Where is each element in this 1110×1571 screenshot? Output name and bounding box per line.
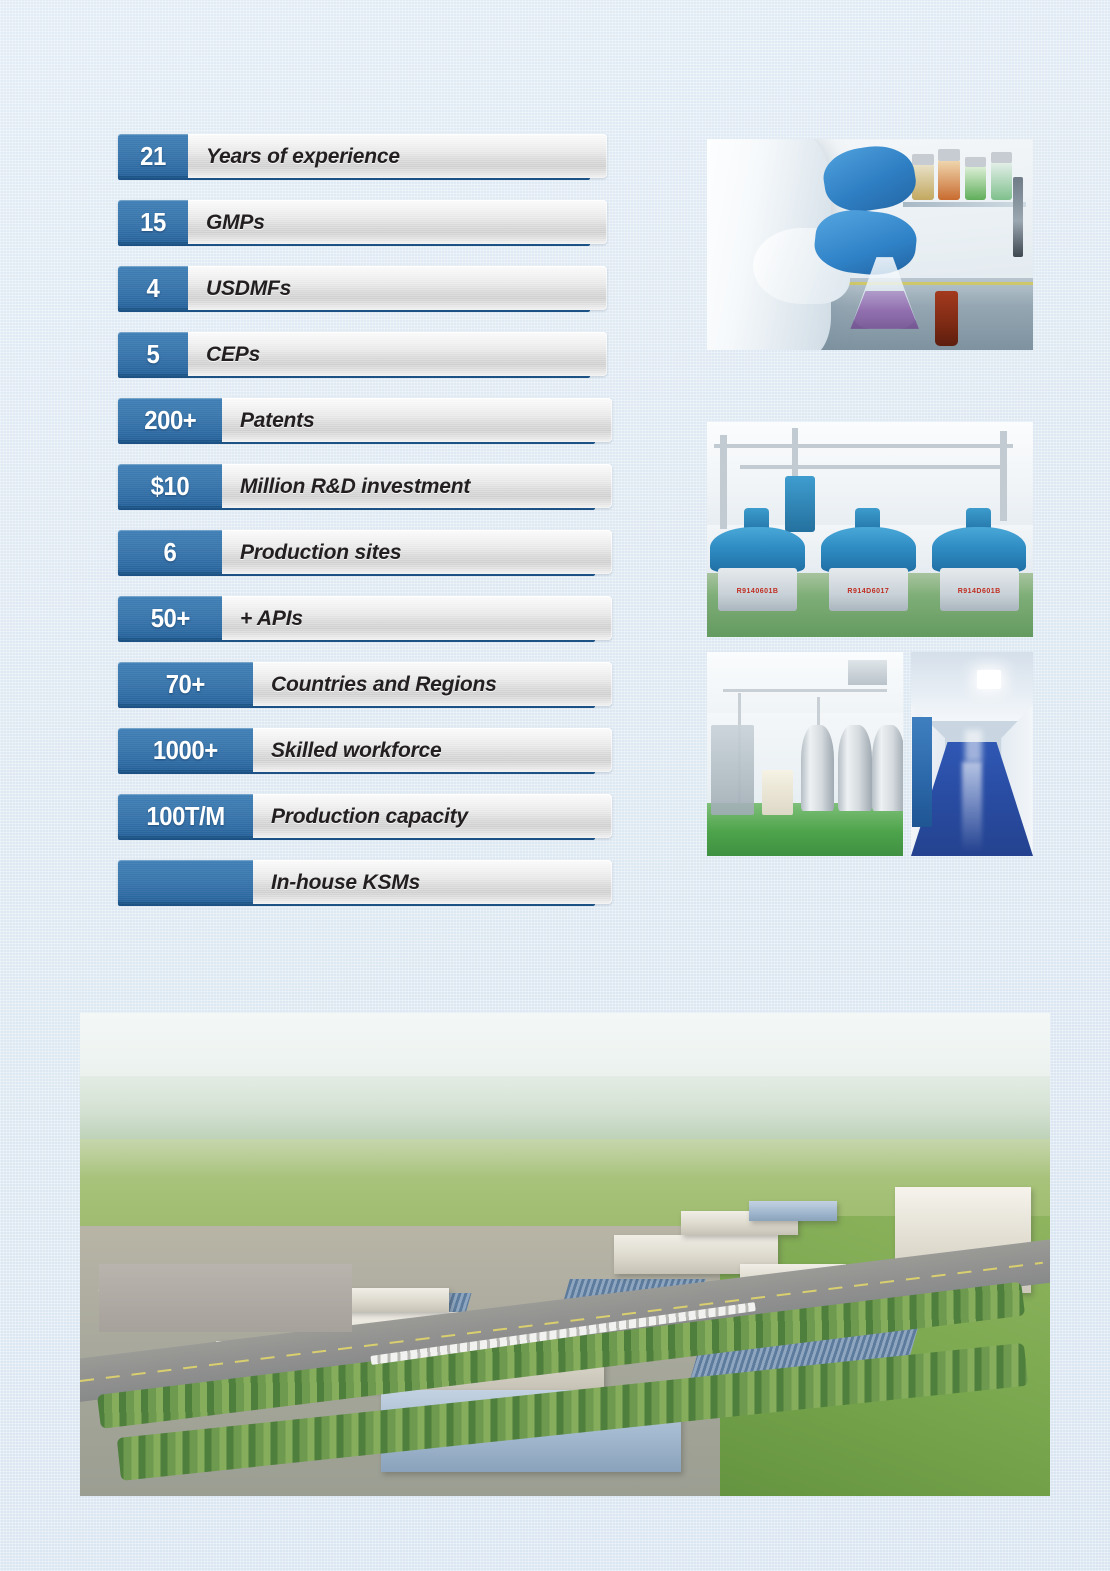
floor-reflection [962, 762, 982, 852]
pipe [740, 465, 1001, 469]
stat-row[interactable]: 4 USDMFs [118, 266, 618, 310]
stat-value-block: 100T/M [118, 794, 253, 838]
reactor-unit: R9140601B [710, 508, 805, 611]
stat-label: Years of experience [188, 146, 400, 167]
stainless-steel-tank [801, 725, 834, 811]
stat-value-block: 1000+ [118, 728, 253, 772]
stat-label: Production sites [222, 542, 401, 563]
stat-value: 50+ [150, 605, 189, 631]
reagent-bottle [991, 162, 1012, 200]
reactor-asset-tag: R914D6017 [832, 588, 904, 595]
stat-group-credentials: 21 Years of experience 15 GMPs [118, 134, 618, 376]
stat-value-block: $10 [118, 464, 222, 508]
stat-value-block: 200+ [118, 398, 222, 442]
bar-body: 21 Years of experience [118, 134, 607, 178]
bar-body: 50+ + APIs [118, 596, 612, 640]
bar-body: 70+ Countries and Regions [118, 662, 612, 706]
reactor-unit: R914D601B [932, 508, 1027, 611]
stat-value-block: 50+ [118, 596, 222, 640]
bar-body: 6 Production sites [118, 530, 612, 574]
bar-body: 200+ Patents [118, 398, 612, 442]
stat-row[interactable]: 100T/M Production capacity [118, 794, 618, 838]
stat-group-scale-and-reach: 70+ Countries and Regions 1000+ Skilled … [118, 662, 618, 904]
stat-label-bar: In-house KSMs [253, 860, 612, 904]
ceiling-light-panel [977, 670, 1001, 688]
reactor-asset-tag: R9140601B [722, 588, 794, 595]
stat-row[interactable]: 50+ + APIs [118, 596, 618, 640]
parking-lot [99, 1264, 351, 1332]
reagent-bottle [965, 166, 986, 200]
bar-body: 4 USDMFs [118, 266, 607, 310]
stat-label-bar: CEPs [188, 332, 607, 376]
stat-value: 70+ [166, 671, 205, 697]
stat-label-bar: USDMFs [188, 266, 607, 310]
stat-label-bar: Production sites [222, 530, 612, 574]
stat-label-bar: + APIs [222, 596, 612, 640]
stat-label-bar: GMPs [188, 200, 607, 244]
stat-value: 5 [147, 341, 160, 367]
stat-value-block: 15 [118, 200, 188, 244]
stainless-steel-tank [872, 725, 903, 811]
stat-label: Patents [222, 410, 314, 431]
reactor-vessel [821, 527, 916, 572]
chemical-reactor-hall-photo: R9140601B R914D6017 R914D601B [707, 422, 1033, 637]
bar-body: 1000+ Skilled workforce [118, 728, 612, 772]
stat-label: USDMFs [188, 278, 291, 299]
reactor-unit: R914D6017 [821, 508, 916, 611]
stat-value-block: 70+ [118, 662, 253, 706]
stat-value-block: 6 [118, 530, 222, 574]
stat-value-block: 4 [118, 266, 188, 310]
stat-row[interactable]: 15 GMPs [118, 200, 618, 244]
warehouse-blue-roof [749, 1201, 836, 1220]
corridor-vanishing-point [965, 730, 982, 763]
stat-row[interactable]: 5 CEPs [118, 332, 618, 376]
stat-row[interactable]: 1000+ Skilled workforce [118, 728, 618, 772]
stat-value-block: 5 [118, 332, 188, 376]
water-treatment-room-photo [707, 652, 903, 856]
stat-label-bar: Skilled workforce [253, 728, 612, 772]
bar-body: 15 GMPs [118, 200, 607, 244]
statistics-panel: 21 Years of experience 15 GMPs [118, 134, 618, 904]
stat-label: Countries and Regions [253, 674, 497, 695]
reactor-vessel [710, 527, 805, 572]
stat-label-bar: Years of experience [188, 134, 607, 178]
stat-label-bar: Patents [222, 398, 612, 442]
pipe [714, 444, 1014, 448]
stat-value: 4 [147, 275, 160, 301]
aerial-factory-campus-photo [80, 1013, 1050, 1496]
bar-body: 100T/M Production capacity [118, 794, 612, 838]
stat-label-bar: Production capacity [253, 794, 612, 838]
bar-body: In-house KSMs [118, 860, 612, 904]
lab-shelf [903, 202, 1027, 207]
reagent-bottle [938, 160, 959, 200]
stat-value: 21 [140, 143, 166, 169]
cleanroom-corridor-photo [911, 652, 1033, 856]
stat-value: $10 [151, 473, 190, 499]
stat-value-block: 21 [118, 134, 188, 178]
stat-row[interactable]: 200+ Patents [118, 398, 618, 442]
stat-label-bar: Countries and Regions [253, 662, 612, 706]
stat-label-bar: Million R&D investment [222, 464, 612, 508]
stat-label: CEPs [188, 344, 260, 365]
dropper-bottle [935, 291, 958, 346]
stat-value: 6 [164, 539, 177, 565]
stat-label: Skilled workforce [253, 740, 442, 761]
pipette [1013, 177, 1023, 257]
corridor-ceiling [911, 652, 1033, 721]
reactor-asset-tag: R914D601B [943, 588, 1015, 595]
stat-group-research-and-production: 200+ Patents $10 Million R&D investment [118, 398, 618, 640]
stat-value: 100T/M [146, 803, 224, 829]
stat-label: GMPs [188, 212, 265, 233]
stat-label: + APIs [222, 608, 303, 629]
laboratory-scientist-photo [707, 139, 1033, 350]
stat-row[interactable]: 21 Years of experience [118, 134, 618, 178]
stat-label: Production capacity [253, 806, 468, 827]
stat-value: 15 [140, 209, 166, 235]
stainless-steel-tank [838, 725, 871, 811]
ventilation-duct [848, 660, 887, 684]
bar-body: $10 Million R&D investment [118, 464, 612, 508]
stat-value: 1000+ [153, 737, 218, 763]
stat-row[interactable]: 70+ Countries and Regions [118, 662, 618, 706]
stat-value: 200+ [144, 407, 196, 433]
bar-body: 5 CEPs [118, 332, 607, 376]
stat-label: In-house KSMs [253, 872, 420, 893]
reactor-vessel [932, 527, 1027, 572]
stat-row[interactable]: $10 Million R&D investment [118, 464, 618, 508]
stat-value-block [118, 860, 253, 904]
stat-label: Million R&D investment [222, 476, 470, 497]
cleanroom-door [912, 717, 932, 827]
stat-row[interactable]: 6 Production sites [118, 530, 618, 574]
pipe [723, 689, 888, 692]
stat-row[interactable]: In-house KSMs [118, 860, 618, 904]
ro-membrane-skid [711, 725, 754, 815]
control-cabinet [762, 770, 793, 815]
